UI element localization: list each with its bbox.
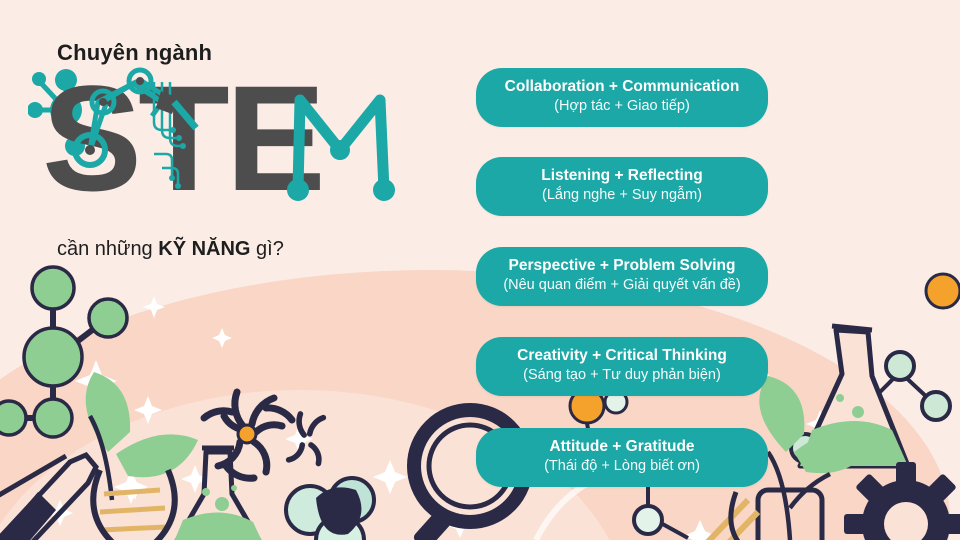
subtitle-tail: gì? bbox=[250, 238, 283, 260]
skill-title-en: Collaboration + Communication bbox=[492, 77, 752, 97]
stem-letter-m-teal bbox=[287, 100, 395, 201]
subtitle-lead: cần những bbox=[57, 238, 158, 260]
subtitle-emphasis: KỸ NĂNG bbox=[158, 238, 250, 260]
skill-title-vi: (Lắng nghe + Suy ngẫm) bbox=[492, 186, 752, 205]
skill-title-vi: (Thái độ + Lòng biết ơn) bbox=[492, 457, 752, 476]
skill-title-en: Creativity + Critical Thinking bbox=[492, 346, 752, 366]
skill-title-vi: (Nêu quan điểm + Giải quyết vấn đề) bbox=[492, 276, 752, 295]
stem-wordmark-art: STE bbox=[28, 58, 458, 228]
skill-card-collaboration-communication[interactable]: Collaboration + Communication (Hợp tác +… bbox=[476, 68, 768, 127]
orange-dot-icon bbox=[926, 274, 960, 308]
skill-title-en: Perspective + Problem Solving bbox=[492, 256, 752, 276]
slide-canvas: STE bbox=[0, 0, 960, 540]
skill-card-perspective-problem-solving[interactable]: Perspective + Problem Solving (Nêu quan … bbox=[476, 247, 768, 306]
skill-title-vi: (Hợp tác + Giao tiếp) bbox=[492, 97, 752, 116]
skill-card-creativity-critical-thinking[interactable]: Creativity + Critical Thinking (Sáng tạo… bbox=[476, 337, 768, 396]
skill-title-en: Listening + Reflecting bbox=[492, 166, 752, 186]
page-subtitle: cần những KỸ NĂNG gì? bbox=[57, 238, 284, 261]
page-title: Chuyên ngành bbox=[57, 40, 212, 66]
stem-letters-dark: STE bbox=[42, 58, 322, 222]
skill-title-en: Attitude + Gratitude bbox=[492, 437, 752, 457]
skill-card-listening-reflecting[interactable]: Listening + Reflecting (Lắng nghe + Suy … bbox=[476, 157, 768, 216]
skill-title-vi: (Sáng tạo + Tư duy phản biện) bbox=[492, 366, 752, 385]
skill-card-attitude-gratitude[interactable]: Attitude + Gratitude (Thái độ + Lòng biế… bbox=[476, 428, 768, 487]
